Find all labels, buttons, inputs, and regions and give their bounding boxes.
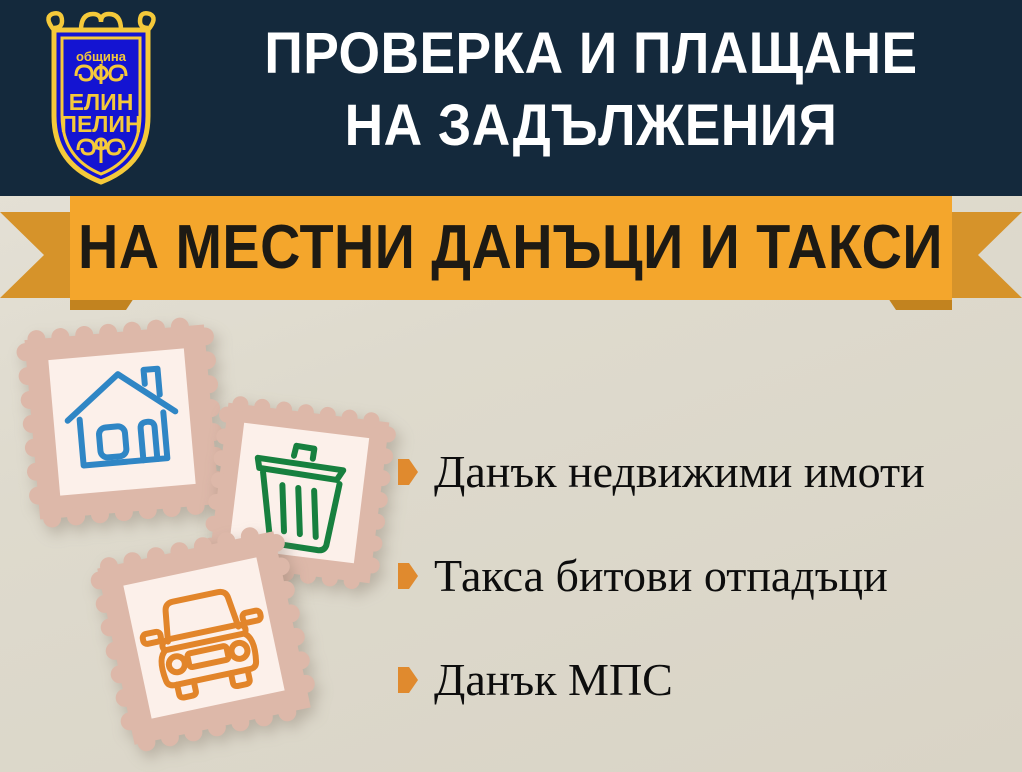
ribbon-banner: НА МЕСТНИ ДАНЪЦИ И ТАКСИ	[70, 196, 952, 300]
arrow-bullet-icon	[398, 667, 418, 693]
list-item[interactable]: Такса битови отпадъци	[398, 524, 1022, 628]
header-bar: община ЕЛИН ПЕЛИН ПРОВЕРКА И ПЛАЩАНЕ НА …	[0, 0, 1022, 196]
list-item[interactable]: Данък МПС	[398, 628, 1022, 732]
subtitle-ribbon: НА МЕСТНИ ДАНЪЦИ И ТАКСИ	[0, 196, 1022, 316]
list-item-label: Данък МПС	[434, 654, 673, 706]
list-item[interactable]: Данък недвижими имоти	[398, 420, 1022, 524]
arrow-bullet-icon	[398, 563, 418, 589]
stamp-card-group	[0, 300, 420, 772]
municipal-crest-logo: община ЕЛИН ПЕЛИН	[36, 8, 166, 188]
arrow-bullet-icon	[398, 459, 418, 485]
ribbon-text: НА МЕСТНИ ДАНЪЦИ И ТАКСИ	[79, 216, 944, 280]
list-item-label: Данък недвижими имоти	[434, 446, 925, 498]
crest-municipality-word: община	[76, 49, 127, 64]
crest-name-line2: ПЕЛИН	[60, 111, 141, 137]
tax-type-list: Данък недвижими имоти Такса битови отпад…	[398, 420, 1022, 732]
page-title: ПРОВЕРКА И ПЛАЩАНЕ НА ЗАДЪЛЖЕНИЯ	[209, 18, 973, 162]
list-item-label: Такса битови отпадъци	[434, 550, 888, 602]
poster-canvas: община ЕЛИН ПЕЛИН ПРОВЕРКА И ПЛАЩАНЕ НА …	[0, 0, 1022, 772]
crest-svg: община ЕЛИН ПЕЛИН	[36, 8, 166, 188]
stamp-card-vehicle	[88, 522, 320, 754]
